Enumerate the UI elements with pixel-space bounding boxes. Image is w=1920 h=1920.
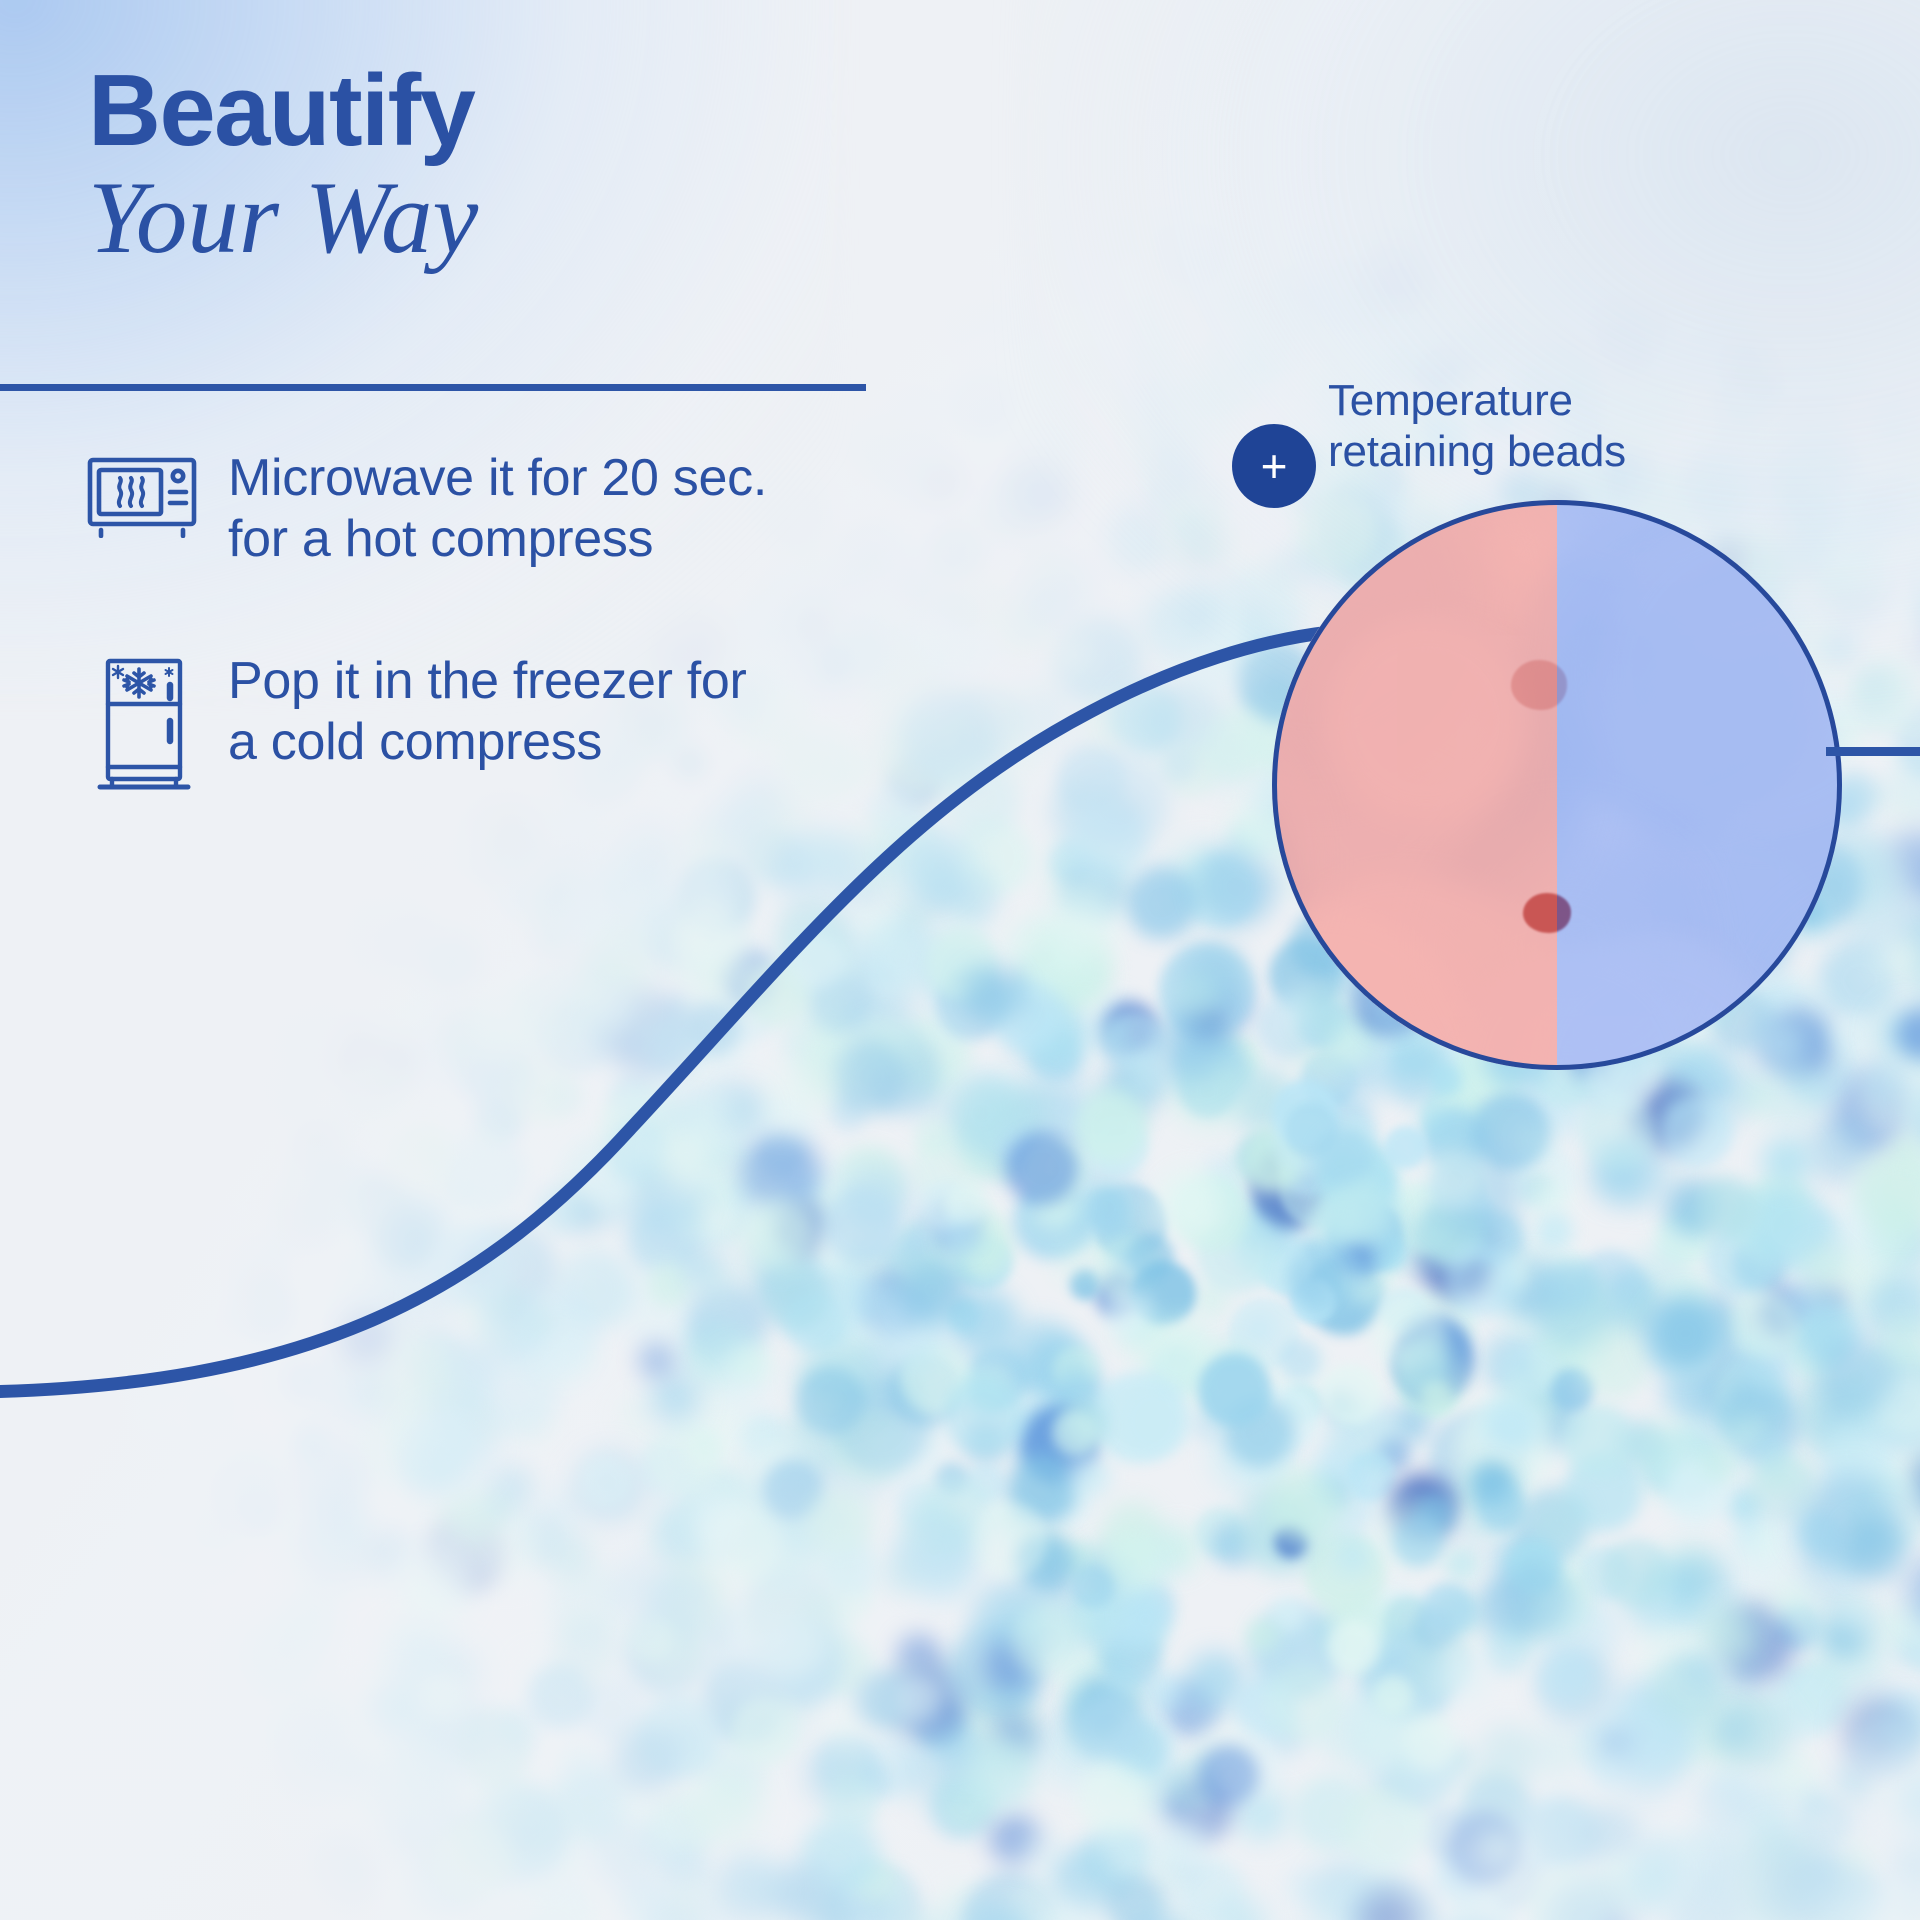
bead bbox=[690, 1772, 760, 1842]
bead bbox=[905, 273, 962, 330]
bead bbox=[594, 988, 637, 1031]
bead bbox=[162, 1120, 204, 1162]
bead bbox=[129, 991, 210, 1072]
bead bbox=[941, 1217, 980, 1256]
bead bbox=[1361, 1695, 1442, 1776]
bead bbox=[658, 1126, 716, 1184]
bead bbox=[508, 1059, 572, 1123]
bead bbox=[373, 1214, 427, 1268]
title-divider bbox=[0, 384, 866, 391]
bead bbox=[677, 903, 743, 969]
bead bbox=[796, 1367, 865, 1436]
bead bbox=[744, 1197, 817, 1270]
bead bbox=[299, 1812, 381, 1894]
bead bbox=[1562, 1404, 1635, 1477]
magnifier-label: Temperature retaining beads bbox=[1328, 375, 1758, 477]
bead bbox=[1843, 1844, 1874, 1875]
bead bbox=[1497, 1562, 1573, 1638]
bead bbox=[409, 1131, 440, 1162]
bead bbox=[1705, 1846, 1741, 1882]
bead bbox=[909, 1085, 945, 1121]
bead bbox=[288, 1441, 366, 1519]
bead bbox=[763, 1617, 823, 1677]
bead bbox=[1074, 1693, 1144, 1763]
bead bbox=[198, 1033, 296, 1131]
bead bbox=[1402, 1328, 1458, 1384]
page-title-line-2: Your Way bbox=[88, 165, 908, 272]
bead bbox=[383, 1864, 437, 1918]
bead bbox=[1125, 866, 1198, 939]
bead bbox=[183, 1511, 238, 1566]
list-item-label-line-1: Pop it in the freezer for bbox=[228, 651, 747, 712]
bead bbox=[822, 1188, 898, 1264]
magnifier-leader-line bbox=[1826, 747, 1920, 756]
bead bbox=[1121, 1595, 1171, 1645]
bead bbox=[1890, 796, 1920, 826]
list-item-label-line-1: Microwave it for 20 sec. bbox=[228, 448, 767, 509]
bead bbox=[1747, 1524, 1784, 1561]
bead bbox=[949, 368, 1014, 433]
bead bbox=[344, 1054, 412, 1122]
bead bbox=[124, 1442, 199, 1517]
bead bbox=[671, 1881, 707, 1917]
bead bbox=[1478, 1726, 1539, 1787]
bead bbox=[1005, 1132, 1079, 1206]
bead bbox=[1158, 1169, 1225, 1236]
bead bbox=[1417, 1105, 1449, 1137]
magnifier-circle[interactable]: + bbox=[1272, 500, 1842, 1070]
bead bbox=[894, 1509, 975, 1590]
list-item-label: Pop it in the freezer for a cold compres… bbox=[228, 651, 747, 774]
bead bbox=[1576, 1324, 1651, 1399]
list-item-label-line-2: a cold compress bbox=[228, 712, 747, 773]
bead bbox=[1078, 1762, 1152, 1836]
bead bbox=[502, 879, 537, 914]
bead bbox=[1332, 1180, 1395, 1243]
bead bbox=[553, 1617, 619, 1683]
bead bbox=[286, 1531, 317, 1562]
bead bbox=[592, 1823, 663, 1894]
bead bbox=[784, 1291, 847, 1354]
bead bbox=[1480, 1831, 1515, 1866]
bead bbox=[944, 761, 1020, 837]
bead bbox=[1844, 1517, 1906, 1579]
bead bbox=[418, 1672, 467, 1721]
bead bbox=[1421, 1583, 1473, 1635]
bead bbox=[730, 1696, 799, 1765]
bead bbox=[375, 1693, 414, 1732]
bead bbox=[558, 1741, 600, 1783]
bead bbox=[1809, 1523, 1846, 1560]
bead bbox=[313, 1514, 359, 1560]
bead bbox=[1536, 1212, 1573, 1249]
bead bbox=[1445, 1242, 1520, 1317]
bead bbox=[703, 1505, 782, 1584]
bead bbox=[1434, 1650, 1488, 1704]
bead bbox=[358, 986, 425, 1053]
bead bbox=[1290, 1262, 1328, 1300]
bead bbox=[1057, 1243, 1094, 1280]
bead bbox=[1089, 1016, 1130, 1057]
bead bbox=[943, 618, 999, 674]
bead bbox=[215, 1304, 247, 1336]
bead bbox=[891, 1674, 942, 1725]
bead bbox=[119, 1257, 171, 1309]
bead bbox=[1084, 1187, 1129, 1232]
bead bbox=[1803, 1247, 1848, 1292]
bead bbox=[215, 1439, 274, 1498]
bead bbox=[1264, 1665, 1341, 1742]
bead bbox=[1646, 1294, 1725, 1373]
microwave-icon bbox=[86, 448, 198, 538]
bead bbox=[1590, 1755, 1623, 1788]
feature-list: Microwave it for 20 sec. for a hot compr… bbox=[86, 448, 916, 877]
freezer-icon bbox=[86, 651, 198, 797]
bead bbox=[914, 1117, 953, 1156]
bead bbox=[514, 969, 595, 1050]
bead bbox=[422, 931, 479, 988]
bead bbox=[1120, 1385, 1192, 1457]
bead bbox=[1384, 1126, 1427, 1169]
bead bbox=[791, 935, 845, 989]
bead bbox=[1834, 1595, 1873, 1634]
bead bbox=[1246, 1619, 1279, 1652]
bead bbox=[1758, 1062, 1825, 1129]
list-item: Pop it in the freezer for a cold compres… bbox=[86, 651, 916, 797]
bead bbox=[1545, 1262, 1596, 1313]
bead bbox=[1444, 1547, 1479, 1582]
bead bbox=[548, 893, 604, 949]
bead bbox=[1321, 1364, 1382, 1425]
bead bbox=[1459, 1511, 1491, 1543]
bead bbox=[712, 1855, 781, 1920]
bead bbox=[651, 1373, 701, 1423]
bead bbox=[638, 1342, 674, 1378]
bead bbox=[1761, 1846, 1839, 1920]
bead bbox=[1502, 1342, 1558, 1398]
bead bbox=[475, 1288, 545, 1358]
bead bbox=[326, 897, 382, 953]
bead bbox=[962, 279, 994, 311]
bead bbox=[1155, 1006, 1230, 1081]
bead bbox=[1696, 1177, 1757, 1238]
bead bbox=[1841, 1809, 1872, 1840]
bead bbox=[624, 1129, 658, 1163]
bead bbox=[945, 1077, 1018, 1150]
magnifier-label-line-2: retaining beads bbox=[1328, 426, 1758, 477]
bead bbox=[609, 1556, 675, 1622]
bead bbox=[828, 1761, 864, 1797]
bead bbox=[694, 1260, 736, 1302]
bead bbox=[1393, 1516, 1444, 1567]
bead bbox=[1105, 1289, 1156, 1340]
bead bbox=[962, 1738, 1035, 1811]
page-title-line-1: Beautify bbox=[88, 62, 908, 161]
bead bbox=[579, 1454, 634, 1509]
bead bbox=[1747, 1452, 1817, 1522]
list-item: Microwave it for 20 sec. for a hot compr… bbox=[86, 448, 916, 571]
bead bbox=[265, 1739, 338, 1812]
magnifier-ring bbox=[1272, 500, 1842, 1070]
bead bbox=[1699, 1360, 1770, 1431]
bead bbox=[194, 1391, 232, 1429]
bead bbox=[1762, 1137, 1812, 1187]
bead bbox=[408, 1410, 489, 1491]
list-item-label: Microwave it for 20 sec. for a hot compr… bbox=[228, 448, 767, 571]
bead bbox=[1601, 1539, 1671, 1609]
bead bbox=[1851, 1715, 1914, 1778]
bead bbox=[538, 1330, 592, 1384]
bead bbox=[210, 1156, 254, 1200]
bead bbox=[130, 1359, 175, 1404]
bead bbox=[639, 1012, 701, 1074]
bead bbox=[614, 1726, 679, 1791]
bead bbox=[1069, 752, 1169, 852]
bead bbox=[470, 1125, 500, 1155]
bead bbox=[962, 965, 1022, 1025]
bead bbox=[1711, 1712, 1754, 1755]
bead bbox=[944, 1375, 1024, 1455]
bead bbox=[298, 1660, 330, 1692]
bead bbox=[1162, 749, 1196, 783]
bead bbox=[1421, 1381, 1452, 1412]
bead bbox=[336, 1311, 389, 1364]
bead bbox=[1075, 1092, 1147, 1164]
bead bbox=[1817, 1338, 1895, 1416]
headline-block: Beautify Your Way bbox=[88, 62, 908, 272]
bead bbox=[897, 1254, 967, 1324]
bead bbox=[1198, 1353, 1271, 1426]
bead bbox=[1318, 1447, 1349, 1478]
bead bbox=[398, 1558, 466, 1626]
infographic-canvas: Beautify Your Way Mi bbox=[0, 0, 1920, 1920]
bead bbox=[1068, 1455, 1110, 1497]
bead bbox=[1532, 1727, 1584, 1779]
magnifier-label-line-1: Temperature bbox=[1328, 375, 1758, 426]
bead bbox=[1729, 1290, 1798, 1359]
bead bbox=[754, 1066, 821, 1133]
bead bbox=[1661, 1096, 1733, 1168]
bead bbox=[806, 1487, 874, 1555]
bead bbox=[1266, 1468, 1344, 1546]
list-item-label-line-2: for a hot compress bbox=[228, 509, 767, 570]
bead bbox=[688, 1430, 724, 1466]
bead bbox=[1681, 1652, 1720, 1691]
bead bbox=[535, 1186, 582, 1233]
bead bbox=[432, 1820, 512, 1900]
bead bbox=[1485, 1397, 1538, 1450]
bead bbox=[1699, 1443, 1739, 1483]
bead bbox=[310, 1082, 348, 1120]
bead bbox=[1469, 1463, 1508, 1502]
bead bbox=[1353, 1799, 1429, 1875]
bead bbox=[833, 1039, 908, 1114]
zoom-in-plus-badge[interactable]: + bbox=[1232, 424, 1316, 508]
bead bbox=[1622, 1861, 1676, 1915]
bead bbox=[1694, 1772, 1752, 1830]
bead bbox=[1539, 1652, 1592, 1705]
bead bbox=[1327, 1620, 1380, 1673]
bead bbox=[133, 1152, 171, 1190]
bead bbox=[1770, 1582, 1814, 1626]
